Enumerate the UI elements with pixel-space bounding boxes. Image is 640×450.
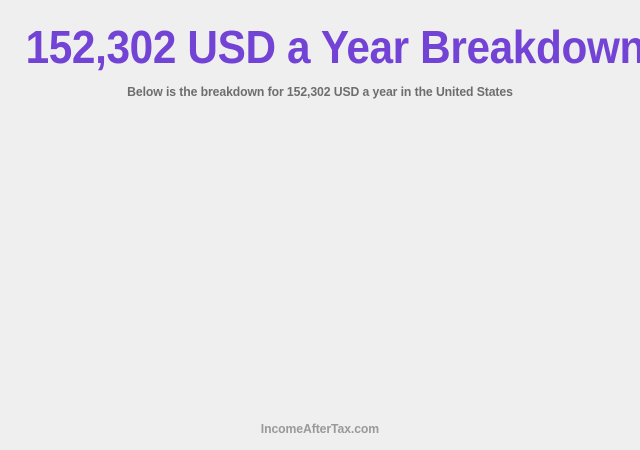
page-title: 152,302 USD a Year Breakdown xyxy=(26,0,615,72)
page-subtitle: Below is the breakdown for 152,302 USD a… xyxy=(19,72,621,100)
income-breakdown-page: 152,302 USD a Year Breakdown Below is th… xyxy=(0,0,640,450)
breakdown-content-area xyxy=(0,118,640,410)
footer-brand-label: IncomeAfterTax.com xyxy=(261,410,379,437)
page-header: 152,302 USD a Year Breakdown Below is th… xyxy=(0,0,640,100)
page-footer: IncomeAfterTax.com xyxy=(0,410,640,450)
